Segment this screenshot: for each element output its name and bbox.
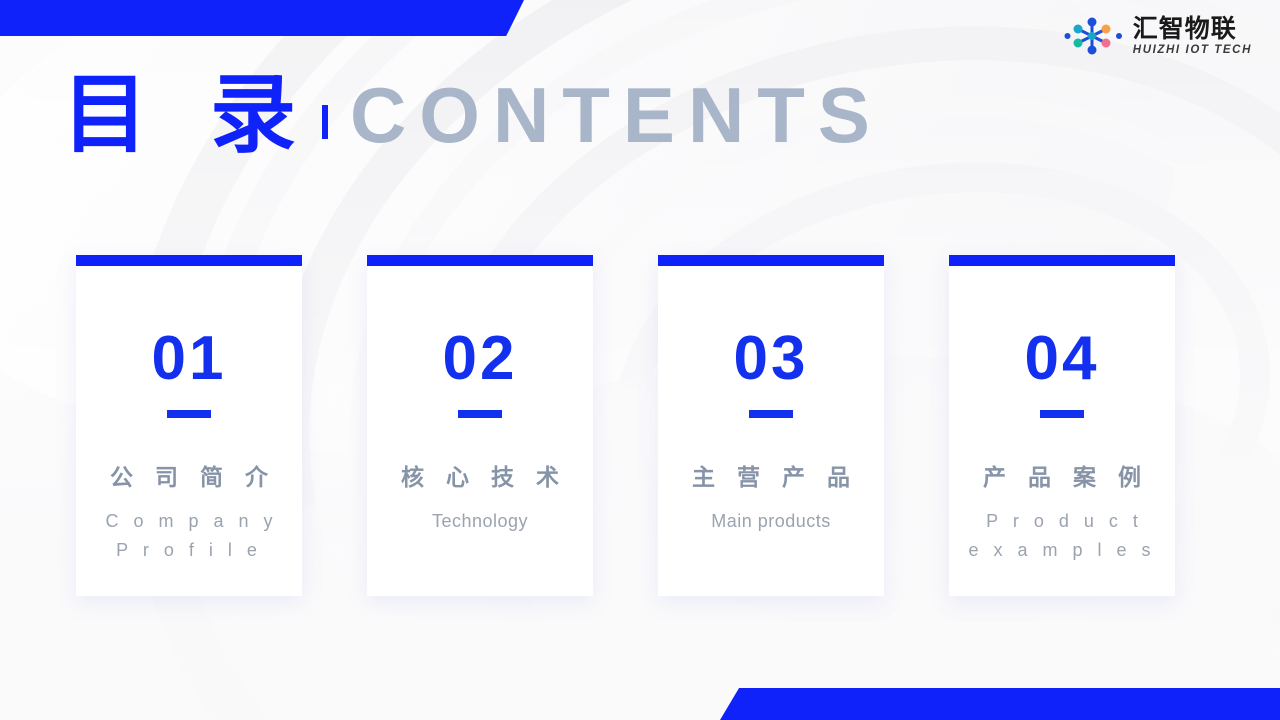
top-accent-bar — [0, 0, 524, 36]
card-top-accent — [949, 255, 1175, 266]
contents-card[interactable]: 01 公 司 简 介 C o m p a n y P r o f i l e — [76, 255, 302, 596]
contents-slide: 汇智物联 HUIZHI IOT TECH 目 录 CONTENTS 01 公 司… — [0, 0, 1280, 720]
card-top-accent — [367, 255, 593, 266]
card-title-cn: 主 营 产 品 — [685, 466, 857, 491]
card-top-accent — [76, 255, 302, 266]
card-title-en: P r o d u c t e x a m p l e s — [962, 507, 1162, 565]
card-title-cn: 产 品 案 例 — [976, 466, 1148, 491]
logo-company-en: HUIZHI IOT TECH — [1133, 45, 1252, 57]
card-title-en: C o m p a n y P r o f i l e — [89, 507, 289, 565]
molecule-network-icon — [1063, 17, 1125, 55]
card-number: 04 — [1025, 328, 1100, 390]
card-title-cn: 核 心 技 术 — [394, 466, 566, 491]
contents-card-list: 01 公 司 简 介 C o m p a n y P r o f i l e 0… — [76, 255, 1175, 596]
logo-text-block: 汇智物联 HUIZHI IOT TECH — [1133, 16, 1252, 57]
card-title-cn: 公 司 简 介 — [103, 466, 275, 491]
card-divider — [749, 410, 793, 418]
page-title: 目 录 CONTENTS — [62, 72, 883, 158]
card-divider — [167, 410, 211, 418]
card-number: 02 — [443, 328, 518, 390]
contents-card[interactable]: 02 核 心 技 术 Technology — [367, 255, 593, 596]
card-title-en: Technology — [380, 507, 580, 536]
bottom-accent-bar — [720, 688, 1280, 720]
card-number: 01 — [152, 328, 227, 390]
card-title-en: Main products — [671, 507, 871, 536]
page-title-en: CONTENTS — [350, 76, 883, 154]
logo-company-cn: 汇智物联 — [1133, 16, 1252, 41]
card-divider — [1040, 410, 1084, 418]
card-divider — [458, 410, 502, 418]
company-logo: 汇智物联 HUIZHI IOT TECH — [1063, 16, 1252, 57]
contents-card[interactable]: 04 产 品 案 例 P r o d u c t e x a m p l e s — [949, 255, 1175, 596]
card-number: 03 — [734, 328, 809, 390]
card-top-accent — [658, 255, 884, 266]
contents-card[interactable]: 03 主 营 产 品 Main products — [658, 255, 884, 596]
page-title-cn: 目 录 — [62, 72, 312, 158]
title-separator — [322, 105, 328, 139]
